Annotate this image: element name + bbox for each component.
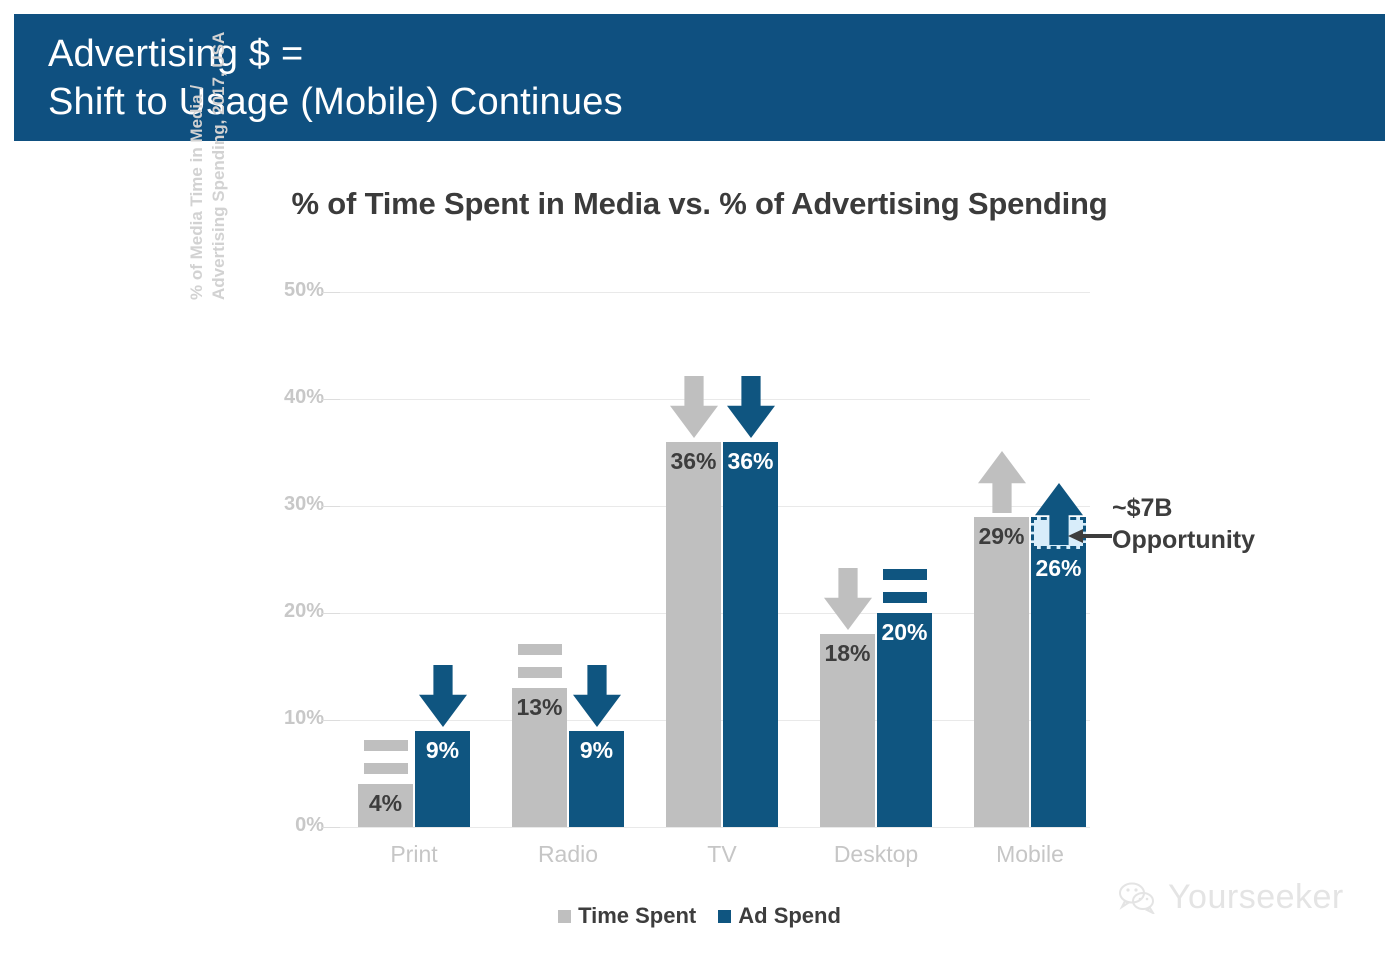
x-axis-label-tv: TV <box>646 841 798 868</box>
bar-value-label: 36% <box>723 448 778 475</box>
equals-icon <box>364 740 408 779</box>
y-axis-tick-mark <box>322 506 340 507</box>
x-axis-label-print: Print <box>338 841 490 868</box>
bar-value-label: 18% <box>820 640 875 667</box>
equals-icon <box>518 644 562 683</box>
bar-print-time-spent[interactable]: 4% <box>358 784 413 827</box>
bar-mobile-ad-spend[interactable]: 26% <box>1031 549 1086 827</box>
bar-value-label: 4% <box>358 790 413 817</box>
up-arrow-icon <box>978 451 1026 518</box>
legend-label: Ad Spend <box>738 903 841 929</box>
plot-area: 4%9%13%9%36%36%18%20%29%26% <box>340 292 1090 827</box>
y-axis-tick-mark <box>322 292 340 293</box>
y-axis-tick-mark <box>322 399 340 400</box>
bar-value-label: 26% <box>1031 555 1086 582</box>
y-axis-tick-30: 30% <box>264 493 324 516</box>
down-arrow-icon <box>670 376 718 443</box>
opportunity-callout: ~$7B Opportunity <box>1112 492 1255 556</box>
gridline <box>340 827 1090 828</box>
y-axis-tick-mark <box>322 827 340 828</box>
legend-item-ad-spend[interactable]: Ad Spend <box>718 903 841 929</box>
legend-item-time-spent[interactable]: Time Spent <box>558 903 696 929</box>
down-arrow-icon <box>419 665 467 732</box>
equals-icon <box>883 569 927 608</box>
bar-value-label: 36% <box>666 448 721 475</box>
y-axis-tick-10: 10% <box>264 707 324 730</box>
slide-canvas: Advertising $ = Shift to Usage (Mobile) … <box>0 0 1399 960</box>
callout-label: Opportunity <box>1112 524 1255 556</box>
y-axis-title: % of Media Time in Media / Advertising S… <box>186 0 230 300</box>
x-axis-label-mobile: Mobile <box>954 841 1106 868</box>
y-axis-tick-40: 40% <box>264 386 324 409</box>
bar-print-ad-spend[interactable]: 9% <box>415 731 470 827</box>
bar-value-label: 20% <box>877 619 932 646</box>
y-axis-title-line-2: Advertising Spending, 2017, USA <box>208 0 230 300</box>
bar-value-label: 29% <box>974 523 1029 550</box>
bar-value-label: 13% <box>512 694 567 721</box>
y-axis-tick-mark <box>322 720 340 721</box>
x-axis-label-radio: Radio <box>492 841 644 868</box>
callout-arrow-icon <box>1068 529 1112 543</box>
banner-title-line-1: Advertising $ = <box>48 30 1385 78</box>
bar-tv-ad-spend[interactable]: 36% <box>723 442 778 827</box>
callout-amount: ~$7B <box>1112 492 1255 524</box>
watermark-text: Yourseeker <box>1168 878 1344 917</box>
bar-value-label: 9% <box>415 737 470 764</box>
y-axis-tick-20: 20% <box>264 600 324 623</box>
legend-swatch <box>558 910 571 923</box>
down-arrow-icon <box>824 568 872 635</box>
x-axis-label-desktop: Desktop <box>800 841 952 868</box>
y-axis-title-line-1: % of Media Time in Media / <box>186 0 208 300</box>
y-axis-tick-mark <box>322 613 340 614</box>
down-arrow-icon <box>573 665 621 732</box>
bar-radio-ad-spend[interactable]: 9% <box>569 731 624 827</box>
legend-swatch <box>718 910 731 923</box>
bar-mobile-time-spent[interactable]: 29% <box>974 517 1029 827</box>
bar-radio-time-spent[interactable]: 13% <box>512 688 567 827</box>
watermark: Yourseeker <box>1118 878 1344 917</box>
down-arrow-icon <box>727 376 775 443</box>
gridline <box>340 292 1090 293</box>
y-axis-tick-50: 50% <box>264 279 324 302</box>
bar-desktop-ad-spend[interactable]: 20% <box>877 613 932 827</box>
y-axis-tick-0: 0% <box>264 814 324 837</box>
bar-value-label: 9% <box>569 737 624 764</box>
bar-desktop-time-spent[interactable]: 18% <box>820 634 875 827</box>
legend-label: Time Spent <box>578 903 696 929</box>
wechat-icon <box>1118 882 1158 914</box>
bar-tv-time-spent[interactable]: 36% <box>666 442 721 827</box>
banner-title-line-2: Shift to Usage (Mobile) Continues <box>48 78 1385 126</box>
